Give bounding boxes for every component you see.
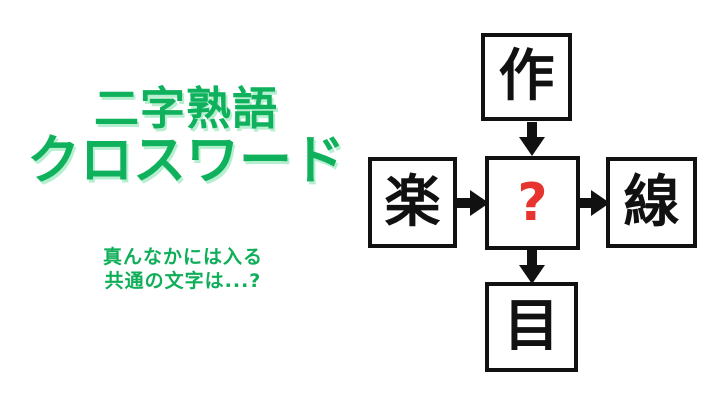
subtitle-line-1: 真んなかには入る [0, 246, 366, 270]
headline-line-1: 二字熟語 [0, 86, 372, 132]
kanji-glyph-right: 線 [624, 175, 680, 231]
kanji-glyph-left: 楽 [385, 175, 441, 231]
arrow-head [591, 190, 610, 216]
kanji-cell-center-answer[interactable]: ? [485, 156, 580, 250]
kanji-glyph-top: 作 [499, 49, 555, 105]
kanji-cross-diagram: 作 楽 ? 線 目 [360, 0, 720, 405]
arrow-right-icon-center-to-right [576, 190, 610, 216]
subtitle-line-2: 共通の文字は...? [0, 270, 366, 294]
puzzle-canvas: 二字熟語 クロスワード 真んなかには入る 共通の文字は...? 作 楽 ? 線 … [0, 0, 720, 405]
kanji-cell-bottom: 目 [485, 282, 578, 372]
kanji-glyph-bottom: 目 [504, 299, 560, 355]
headline-line-2: クロスワード [0, 134, 372, 188]
headline: 二字熟語 クロスワード [0, 86, 372, 188]
arrow-right-icon-left-to-center [455, 190, 489, 216]
arrow-down-icon-top-to-center [519, 122, 545, 156]
arrow-head [519, 137, 545, 156]
kanji-cell-right: 線 [606, 157, 697, 248]
question-mark-glyph: ? [517, 177, 547, 229]
kanji-cell-top: 作 [481, 33, 572, 121]
arrow-head [470, 190, 489, 216]
arrow-head [519, 265, 545, 284]
kanji-cell-left: 楽 [368, 157, 457, 248]
arrow-down-icon-center-to-bottom [519, 250, 545, 284]
subtitle: 真んなかには入る 共通の文字は...? [0, 246, 366, 294]
